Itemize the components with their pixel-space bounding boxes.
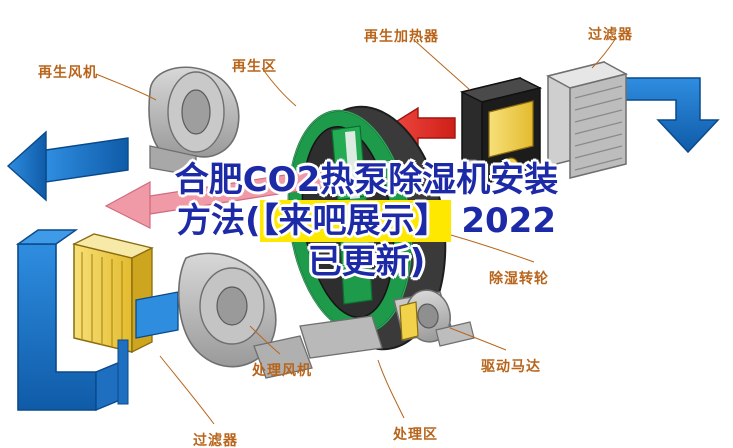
rotor-base-bracket [300, 316, 382, 358]
overlay-title-line-1: 合肥CO2热泵除湿机安装 [40, 160, 693, 201]
overlay-title-line2-prefix: 方法( [177, 201, 261, 241]
label-regen-fan: 再生风机 [38, 62, 98, 82]
label-filter-bottom: 过滤器 [193, 430, 238, 448]
overlay-title-highlight: 【来吧展示】 [261, 201, 450, 241]
overlay-title-line1-text: 合肥CO2热泵除湿机安装 [175, 160, 559, 200]
diagram-canvas: 再生风机 再生区 再生加热器 过滤器 除湿转轮 驱动马达 处理风机 处理区 过滤… [0, 0, 733, 448]
label-process-zone: 处理区 [393, 424, 438, 444]
overlay-title-line-3: 已更新) [40, 242, 693, 283]
label-regen-zone: 再生区 [232, 56, 277, 76]
label-regen-heater: 再生加热器 [364, 26, 439, 46]
label-filter-top: 过滤器 [588, 24, 633, 44]
label-process-fan: 处理风机 [252, 360, 312, 380]
overlay-title-line-2: 方法(【来吧展示】 2022 [40, 201, 693, 242]
overlay-title-line2-suffix: 2022 [450, 201, 556, 241]
duct-top-right [612, 78, 718, 152]
label-drive-motor: 驱动马达 [481, 356, 541, 376]
overlay-title: 合肥CO2热泵除湿机安装 方法(【来吧展示】 2022 已更新) [0, 160, 733, 283]
overlay-title-line3-text: 已更新) [308, 242, 426, 282]
